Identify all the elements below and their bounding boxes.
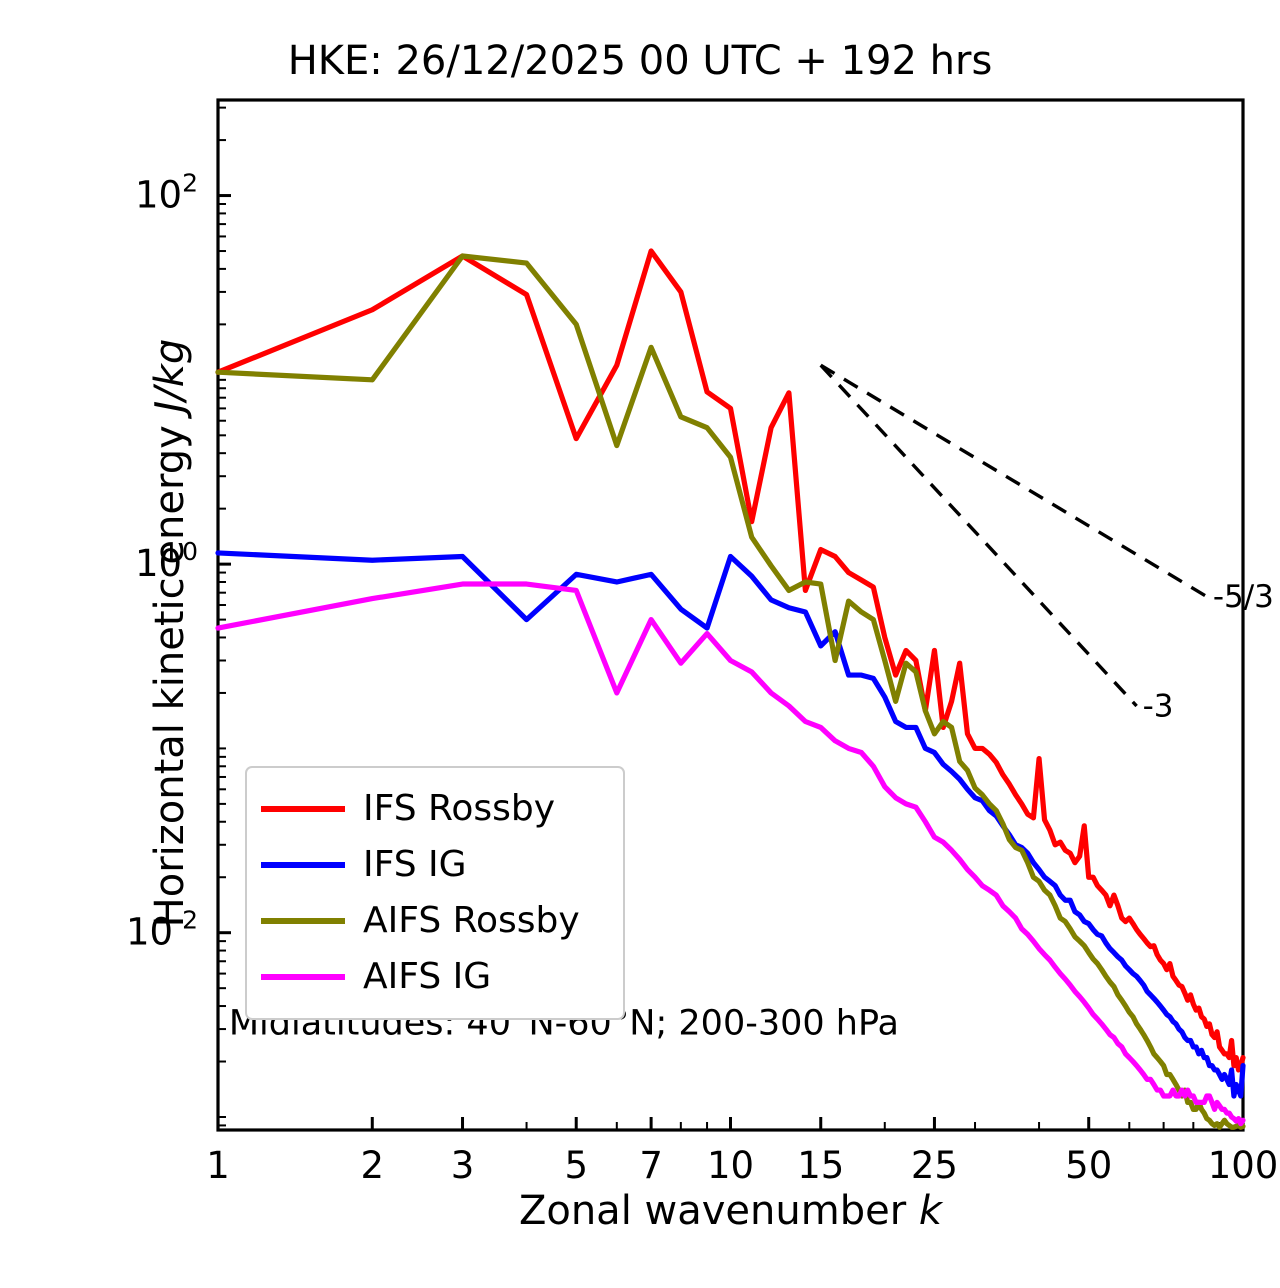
reference-slope-line	[821, 365, 1207, 596]
legend-item[interactable]: AIFS IG	[261, 949, 607, 1005]
legend: IFS RossbyIFS IGAIFS RossbyAIFS IG	[245, 766, 625, 1020]
x-axis-label: Zonal wavenumber k	[218, 1188, 1243, 1234]
legend-item[interactable]: AIFS Rossby	[261, 893, 607, 949]
y-axis-label-units: J/kg	[147, 339, 193, 413]
x-tick-label: 2	[361, 1144, 385, 1187]
reference-slope-line	[821, 365, 1137, 706]
x-axis-label-text: Zonal wavenumber	[519, 1188, 919, 1234]
x-tick-label: 100	[1208, 1144, 1279, 1187]
legend-item[interactable]: IFS IG	[261, 837, 607, 893]
x-tick-label: 3	[451, 1144, 475, 1187]
x-tick-label: 25	[911, 1144, 958, 1187]
figure-canvas: HKE: 26/12/2025 00 UTC + 192 hrs 1235710…	[0, 0, 1280, 1288]
legend-item[interactable]: IFS Rossby	[261, 781, 607, 837]
legend-color-swatch	[261, 918, 345, 924]
legend-item-label: IFS IG	[363, 847, 467, 883]
legend-color-swatch	[261, 862, 345, 868]
x-tick-label: 15	[797, 1144, 844, 1187]
y-axis-label: Horizontal kinetic energy J/kg	[147, 133, 193, 1133]
y-axis-label-text: Horizontal kinetic energy	[147, 413, 193, 928]
x-tick-label: 7	[639, 1144, 663, 1187]
legend-item-label: IFS Rossby	[363, 791, 555, 827]
legend-color-swatch	[261, 806, 345, 812]
reference-slope-label: -3	[1143, 688, 1174, 724]
legend-item-label: AIFS IG	[363, 959, 491, 995]
x-tick-label: 5	[564, 1144, 588, 1187]
x-tick-label: 1	[206, 1144, 230, 1187]
x-tick-label: 10	[707, 1144, 754, 1187]
legend-item-label: AIFS Rossby	[363, 903, 580, 939]
x-tick-label: 50	[1065, 1144, 1112, 1187]
legend-color-swatch	[261, 974, 345, 980]
x-axis-label-symbol: k	[919, 1188, 942, 1234]
reference-slope-label: -5/3	[1213, 579, 1274, 615]
